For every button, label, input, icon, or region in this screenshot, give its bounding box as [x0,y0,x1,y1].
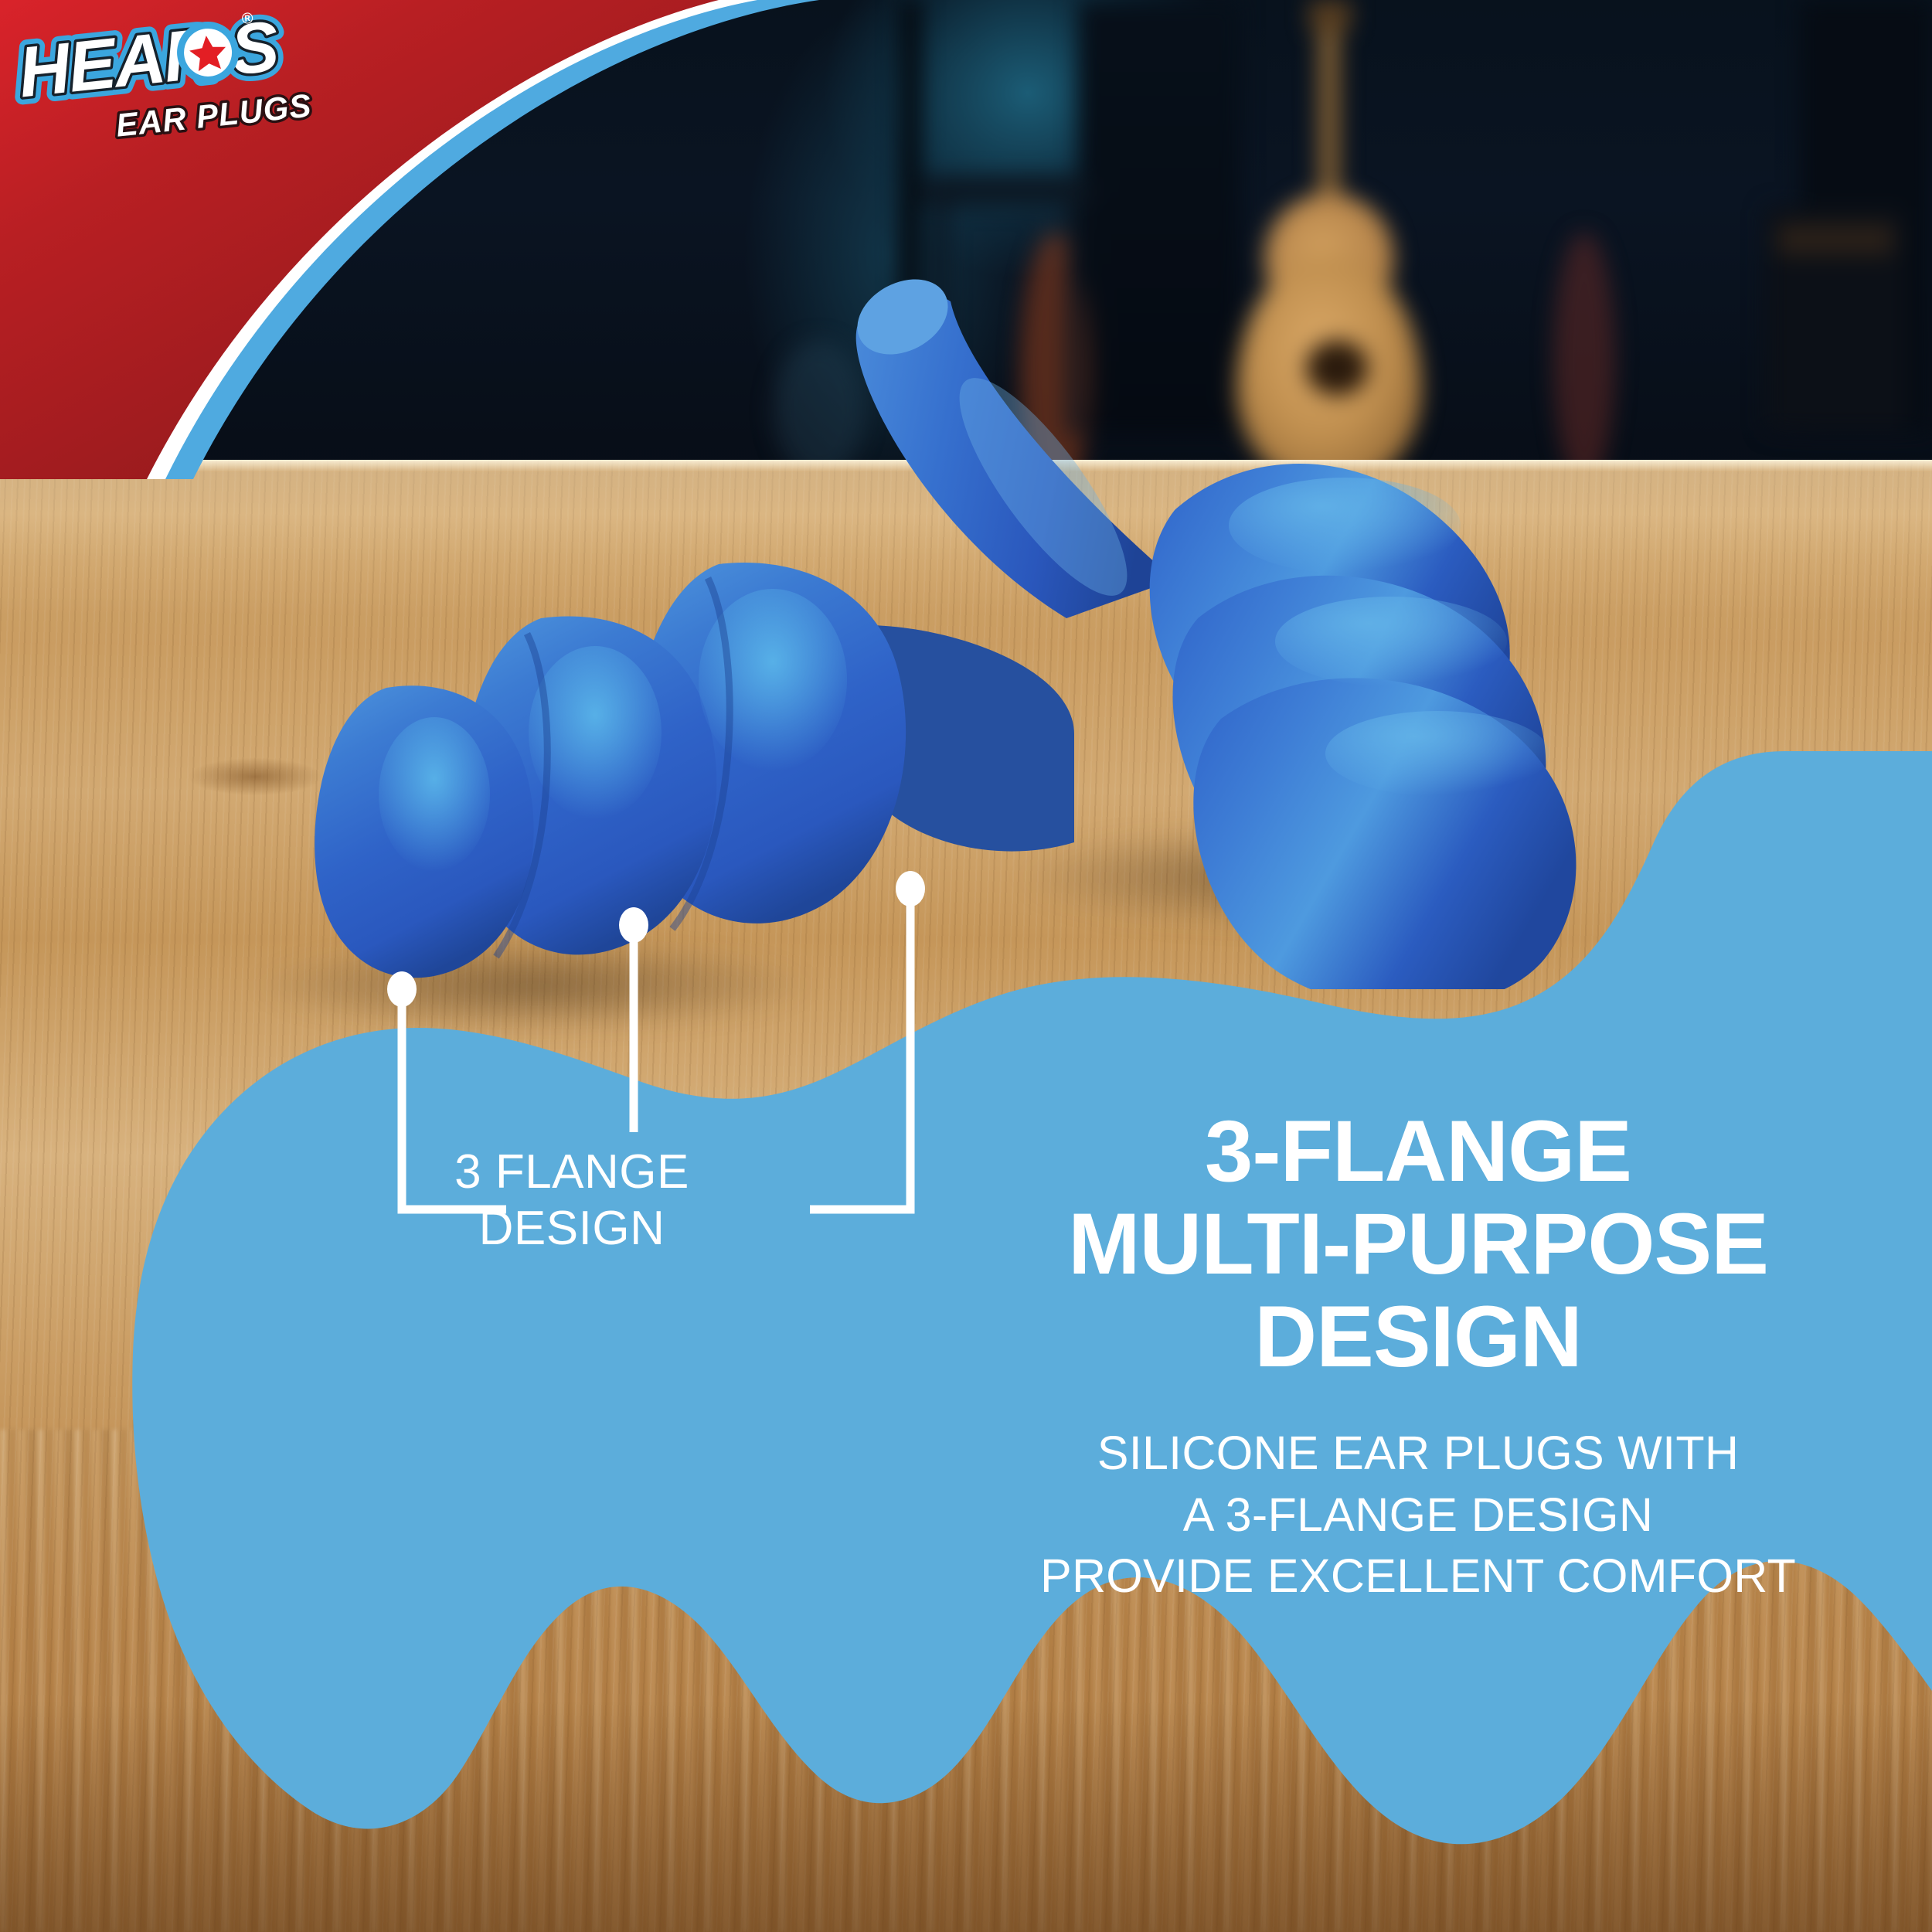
registered-mark: ® [241,12,254,28]
headline-line-2: MULTI-PURPOSE [1028,1198,1808,1291]
flange-callout-label: 3 FLANGE DESIGN [371,1144,773,1257]
amplifier-grill [1777,224,1893,255]
stool-seat [923,176,1090,206]
flange-callout-line-1: 3 FLANGE [371,1144,773,1200]
subcopy-line-2: A 3-FLANGE DESIGN [1028,1485,1808,1546]
subcopy-line-3: PROVIDE EXCELLENT COMFORT [1028,1546,1808,1607]
guitar-headstock [1309,0,1351,31]
headline: 3-FLANGE MULTI-PURPOSE DESIGN [1028,1105,1808,1383]
headline-line-1: 3-FLANGE [1028,1105,1808,1198]
marketing-copy-block: 3-FLANGE MULTI-PURPOSE DESIGN SILICONE E… [1028,1105,1808,1607]
subcopy-line-1: SILICONE EAR PLUGS WITH [1028,1423,1808,1484]
flange-callout-line-2: DESIGN [371,1200,773,1257]
hearos-logo: HEAR S HEAR S HEAR S ® EAR PLUGS EAR PLU… [9,12,380,167]
product-marketing-image: HEAR S HEAR S HEAR S ® EAR PLUGS EAR PLU… [0,0,1932,1932]
headline-line-3: DESIGN [1028,1291,1808,1383]
subcopy: SILICONE EAR PLUGS WITH A 3-FLANGE DESIG… [1028,1423,1808,1607]
